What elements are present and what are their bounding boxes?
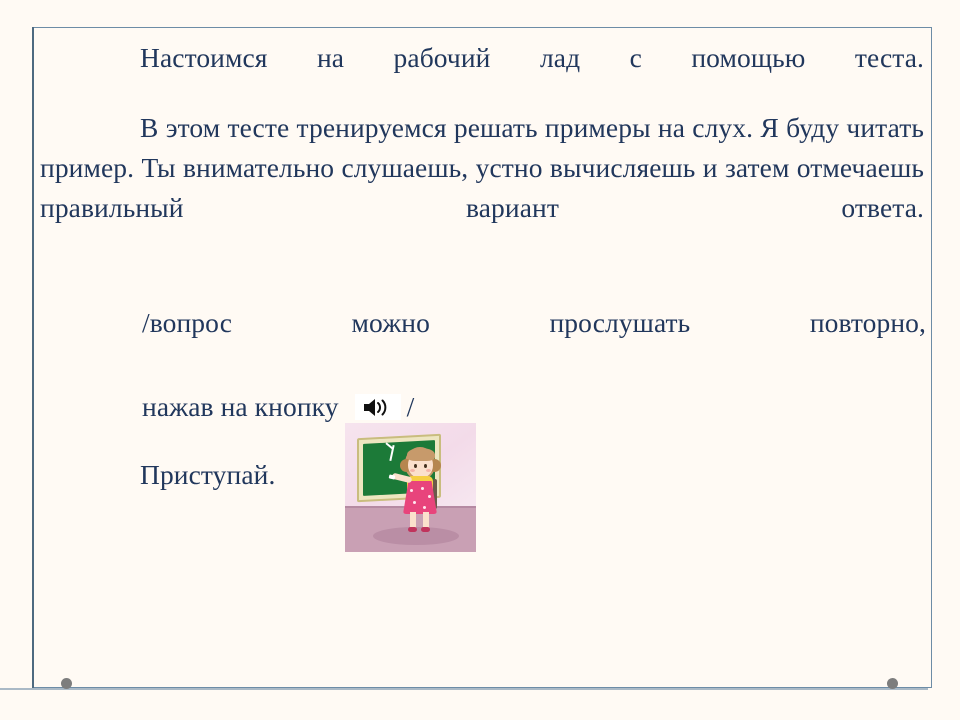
corner-dot-left (61, 678, 72, 689)
shoe-left (408, 527, 417, 532)
frame-bottom-accent (0, 688, 928, 690)
dress (403, 481, 437, 514)
dress-dot (421, 487, 424, 490)
frame-left-accent (32, 27, 34, 689)
cheek-left (410, 469, 415, 472)
hint-line1-text: /вопрос можно прослушать повторно, (142, 307, 926, 338)
hint-line-two: нажав на кнопку/ (142, 386, 926, 428)
hint-paragraph: /вопрос можно прослушать повторно, нажав… (142, 302, 926, 428)
intro-text: Настоимся на рабочий лад с помощью теста… (140, 42, 924, 73)
hint-line2-text: нажав на кнопку (142, 391, 339, 422)
slide-canvas: Настоимся на рабочий лад с помощью теста… (0, 0, 960, 720)
girl-at-chalkboard-image (345, 423, 476, 552)
intro-paragraph: Настоимся на рабочий лад с помощью теста… (40, 38, 924, 118)
dress-dot (428, 495, 431, 498)
cheek-right (426, 469, 431, 472)
hint-line-one: /вопрос можно прослушать повторно, (142, 302, 926, 386)
speaker-icon[interactable] (355, 394, 401, 420)
start-paragraph: Приступай. (140, 455, 275, 495)
dress-dot (413, 501, 416, 504)
eye-right (424, 464, 427, 468)
instructions-paragraph: В этом тесте тренируемся решать примеры … (40, 108, 924, 268)
eye-left (414, 464, 417, 468)
corner-dot-right (887, 678, 898, 689)
hair-fringe (407, 448, 435, 461)
instructions-text: В этом тесте тренируемся решать примеры … (40, 112, 924, 223)
hint-closing-slash: / (407, 391, 415, 422)
dress-dot (423, 506, 426, 509)
dress-dot (410, 489, 413, 492)
shoe-right (421, 527, 430, 532)
slide-content: Настоимся на рабочий лад с помощью теста… (40, 30, 926, 650)
